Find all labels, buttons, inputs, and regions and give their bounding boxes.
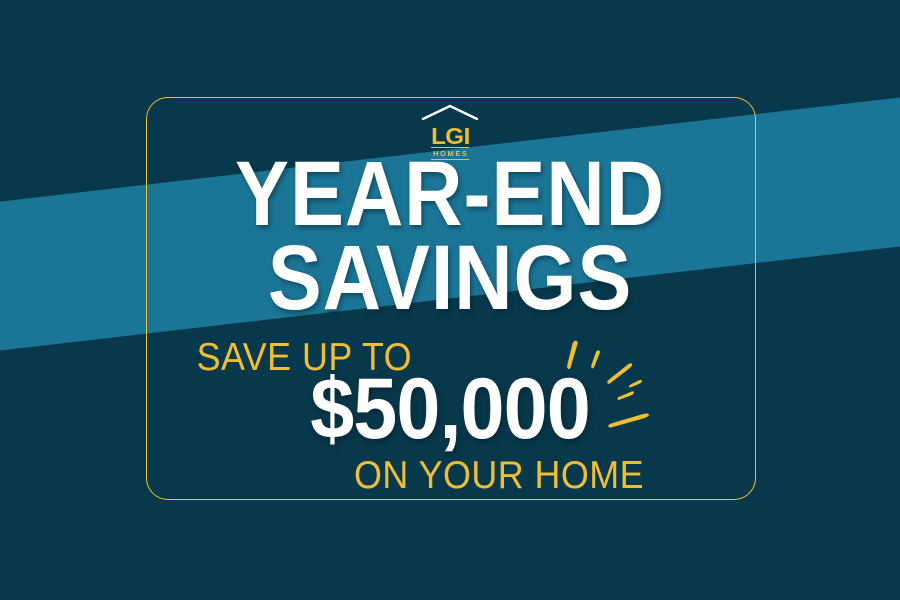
offer-subject-text: ON YOUR HOME bbox=[52, 455, 644, 497]
sparkle-burst-icon bbox=[552, 328, 662, 438]
promo-banner: LGI HOMES YEAR-END SAVINGS SAVE UP TO $5… bbox=[0, 0, 900, 600]
promo-content: LGI HOMES YEAR-END SAVINGS SAVE UP TO $5… bbox=[0, 0, 900, 600]
offer-amount-text: $50,000 bbox=[36, 366, 864, 452]
headline-line-2: SAVINGS bbox=[54, 232, 846, 324]
house-roof-icon bbox=[421, 104, 479, 125]
